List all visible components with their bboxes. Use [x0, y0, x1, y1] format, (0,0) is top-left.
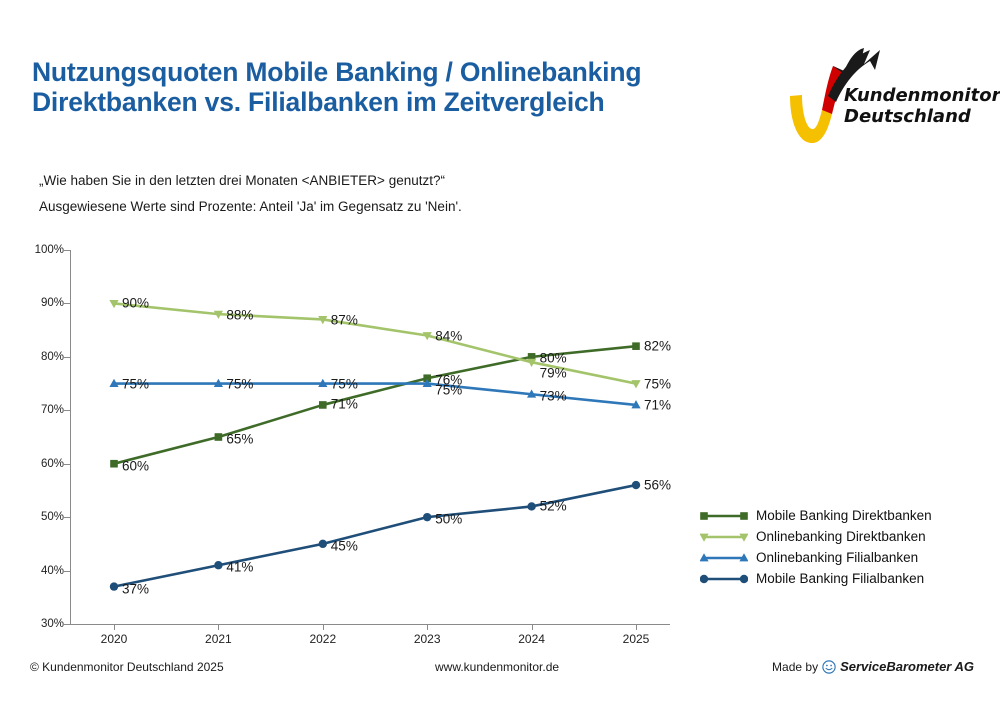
data-point-label: 82%	[644, 339, 671, 354]
data-point-label: 87%	[331, 313, 358, 328]
data-point-marker	[423, 374, 431, 382]
data-point-marker	[109, 300, 118, 308]
data-point-marker	[215, 433, 223, 441]
data-point-label: 90%	[122, 296, 149, 311]
y-axis-tick-mark	[64, 357, 70, 358]
y-axis-tick-mark	[64, 464, 70, 465]
data-point-label: 80%	[540, 350, 567, 365]
data-point-marker	[214, 379, 223, 387]
data-point-label: 75%	[226, 376, 253, 391]
data-point-marker	[318, 316, 327, 324]
survey-question: „Wie haben Sie in den letzten drei Monat…	[39, 173, 445, 188]
legend-label: Onlinebanking Direktbanken	[756, 529, 926, 544]
legend-swatch	[700, 509, 748, 523]
data-point-marker	[214, 311, 223, 319]
x-axis-line	[70, 624, 670, 625]
title-line-2: Direktbanken vs. Filialbanken im Zeitver…	[32, 87, 752, 117]
data-point-label: 65%	[226, 432, 253, 447]
legend-label: Mobile Banking Direktbanken	[756, 508, 932, 523]
data-point-label: 60%	[122, 458, 149, 473]
y-axis-tick-label: 50%	[18, 511, 64, 523]
data-point-marker	[631, 380, 640, 388]
legend-label: Mobile Banking Filialbanken	[756, 571, 924, 586]
y-axis-tick-label: 30%	[18, 618, 64, 630]
data-point-marker	[109, 379, 118, 387]
data-point-marker	[632, 342, 640, 350]
data-point-marker	[527, 359, 536, 367]
header: Nutzungsquoten Mobile Banking / Onlineba…	[0, 0, 1000, 175]
data-point-marker	[319, 540, 327, 548]
page-title: Nutzungsquoten Mobile Banking / Onlineba…	[32, 57, 752, 117]
y-axis-tick-mark	[64, 517, 70, 518]
footer-website-text: www.kundenmonitor.de	[435, 660, 559, 674]
data-point-label: 88%	[226, 308, 253, 323]
x-axis-tick-mark	[114, 625, 115, 630]
data-point-marker	[632, 481, 640, 489]
data-point-label: 79%	[540, 366, 567, 381]
data-point-label: 71%	[644, 397, 671, 412]
x-axis-tick-label: 2022	[293, 632, 353, 646]
y-axis-tick-label: 70%	[18, 404, 64, 416]
legend-swatch	[700, 572, 748, 586]
y-axis-tick-mark	[64, 250, 70, 251]
data-point-marker	[318, 379, 327, 387]
x-axis-tick-mark	[532, 625, 533, 630]
survey-note: Ausgewiesene Werte sind Prozente: Anteil…	[39, 199, 462, 214]
footer-copyright: © Kundenmonitor Deutschland 2025	[30, 660, 224, 674]
legend-label: Onlinebanking Filialbanken	[756, 550, 918, 565]
x-axis-tick-label: 2020	[84, 632, 144, 646]
data-point-marker	[214, 561, 222, 569]
data-point-marker	[527, 502, 535, 510]
x-axis-tick-label: 2025	[606, 632, 666, 646]
smiley-icon	[822, 660, 836, 674]
data-point-label: 75%	[122, 376, 149, 391]
data-point-marker	[423, 332, 432, 340]
footer-website[interactable]: www.kundenmonitor.de	[435, 660, 559, 674]
data-point-marker	[423, 379, 432, 387]
data-point-marker	[110, 460, 118, 468]
title-line-1: Nutzungsquoten Mobile Banking / Onlineba…	[32, 57, 752, 87]
y-axis-tick-label: 90%	[18, 297, 64, 309]
data-point-label: 75%	[644, 376, 671, 391]
legend-item-3[interactable]: Onlinebanking Filialbanken	[700, 547, 980, 568]
data-point-marker	[631, 400, 640, 408]
data-point-marker	[740, 512, 748, 520]
y-axis-line	[70, 250, 71, 625]
y-axis-tick-label: 40%	[18, 565, 64, 577]
logo-subtitle: Deutschland	[844, 106, 971, 127]
data-point-marker	[528, 353, 536, 361]
data-point-label: 56%	[644, 478, 671, 493]
chart-legend: Mobile Banking DirektbankenOnlinebanking…	[700, 505, 980, 589]
data-point-label: 84%	[435, 329, 462, 344]
data-point-marker	[527, 389, 536, 397]
x-axis-tick-label: 2023	[397, 632, 457, 646]
legend-swatch	[700, 551, 748, 565]
data-point-label: 52%	[540, 499, 567, 514]
legend-item-4[interactable]: Mobile Banking Filialbanken	[700, 568, 980, 589]
logo-name: Kundenmonitor	[844, 85, 1000, 106]
made-by-label: Made by	[772, 660, 818, 674]
servicebarometer-brand: ServiceBarometer AG	[840, 659, 974, 674]
x-axis-tick-label: 2021	[188, 632, 248, 646]
y-axis-tick-mark	[64, 624, 70, 625]
legend-item-2[interactable]: Onlinebanking Direktbanken	[700, 526, 980, 547]
y-axis-tick-mark	[64, 571, 70, 572]
legend-item-1[interactable]: Mobile Banking Direktbanken	[700, 505, 980, 526]
data-point-label: 75%	[435, 382, 462, 397]
data-point-label: 50%	[435, 512, 462, 527]
x-axis-tick-mark	[427, 625, 428, 630]
y-axis-tick-label: 100%	[18, 244, 64, 256]
data-point-label: 75%	[331, 376, 358, 391]
data-point-marker	[423, 513, 431, 521]
x-axis-tick-mark	[636, 625, 637, 630]
footer: © Kundenmonitor Deutschland 2025 www.kun…	[0, 655, 1000, 695]
data-point-label: 73%	[540, 389, 567, 404]
data-point-marker	[319, 401, 327, 409]
y-axis-tick-mark	[64, 303, 70, 304]
y-axis-tick-label: 80%	[18, 351, 64, 363]
kundenmonitor-logo: Kundenmonitor® Deutschland	[778, 44, 974, 149]
data-point-marker	[700, 512, 708, 520]
data-point-marker	[110, 582, 118, 590]
data-point-label: 71%	[331, 396, 358, 411]
x-axis-tick-label: 2024	[502, 632, 562, 646]
data-point-marker	[700, 574, 708, 582]
y-axis-tick-label: 60%	[18, 458, 64, 470]
legend-swatch	[700, 530, 748, 544]
data-point-marker	[740, 574, 748, 582]
x-axis-tick-mark	[218, 625, 219, 630]
data-point-label: 45%	[331, 538, 358, 553]
data-point-label: 37%	[122, 581, 149, 596]
logo-wordmark: Kundenmonitor® Deutschland	[844, 82, 1000, 127]
footer-made-by: Made by ServiceBarometer AG	[772, 659, 974, 674]
x-axis-tick-mark	[323, 625, 324, 630]
data-point-label: 41%	[226, 560, 253, 575]
y-axis-tick-mark	[64, 410, 70, 411]
